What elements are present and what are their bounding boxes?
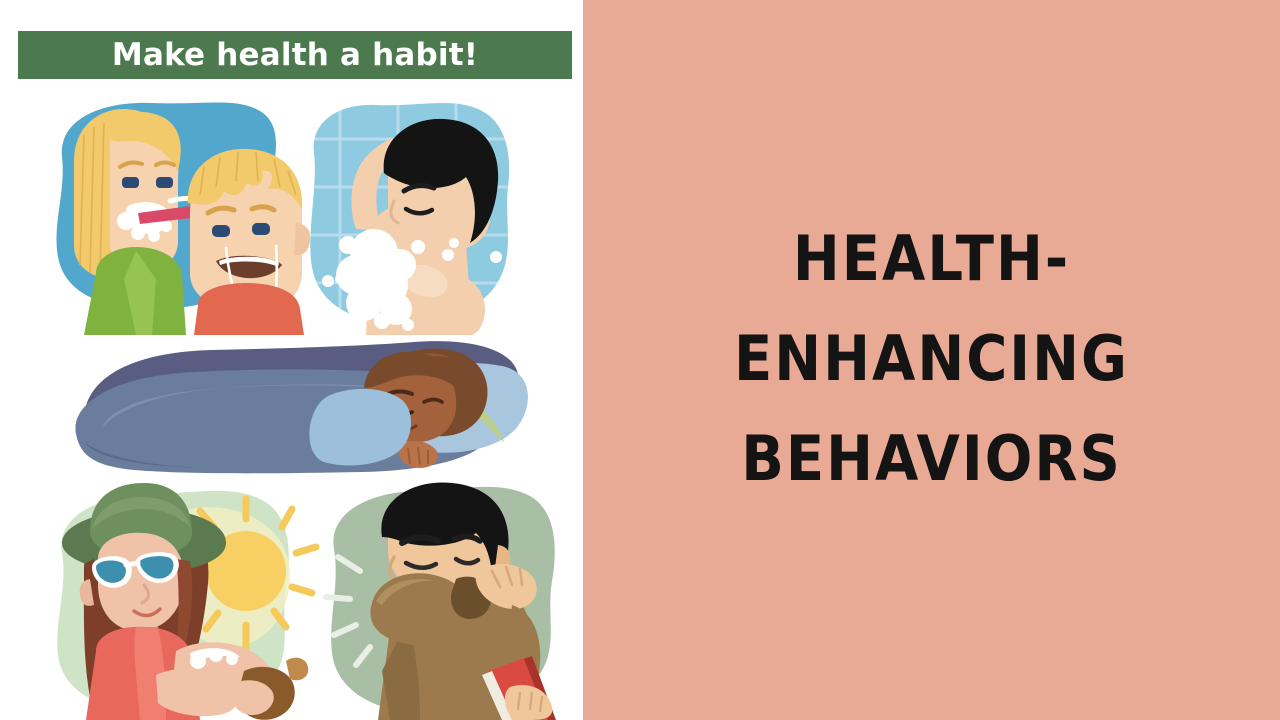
slide: Make health a habit!: [0, 0, 1280, 720]
slide-title: HEALTH- ENHANCING BEHAVIORS: [583, 0, 1280, 720]
illustration-showering-with-soap: [300, 95, 530, 335]
poster-illustration-grid: [0, 90, 583, 720]
illustration-applying-sunscreen: [40, 475, 330, 720]
poster-banner: Make health a habit!: [18, 31, 572, 79]
shower-icon: [300, 95, 530, 335]
right-title-panel: HEALTH- ENHANCING BEHAVIORS: [583, 0, 1280, 720]
illustration-brushing-teeth-and-flossing: [40, 95, 310, 335]
sleep-icon: [62, 330, 532, 480]
title-line-2: ENHANCING: [734, 329, 1129, 392]
title-line-1: HEALTH-: [793, 229, 1070, 292]
brushing-teeth-icon: [40, 95, 310, 335]
sneeze-icon: [316, 475, 561, 720]
sunscreen-icon: [40, 475, 330, 720]
illustration-sneezing-into-elbow: [316, 475, 561, 720]
title-line-3: BEHAVIORS: [741, 429, 1122, 492]
illustration-sleeping-in-bed: [62, 330, 532, 480]
left-image-panel: Make health a habit!: [0, 0, 583, 720]
poster-banner-text: Make health a habit!: [112, 37, 478, 73]
